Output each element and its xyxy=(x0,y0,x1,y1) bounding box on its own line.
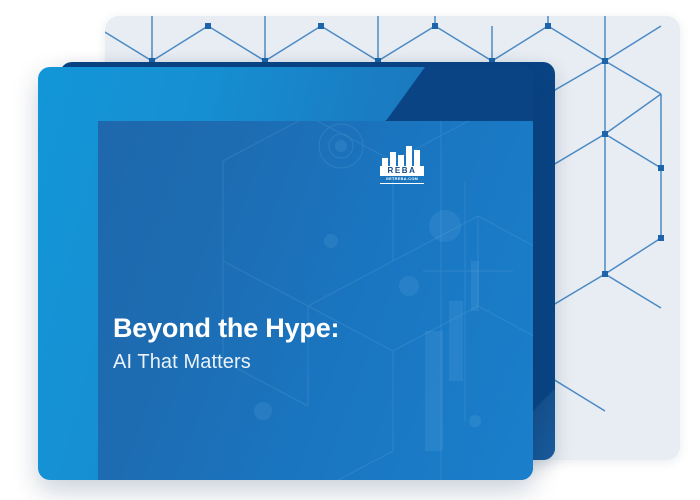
page-title: Beyond the Hype: xyxy=(113,315,339,342)
reba-logo: REBA GETREBA.COM xyxy=(380,146,424,184)
logo-wordmark: REBA xyxy=(380,166,424,176)
logo-url: GETREBA.COM xyxy=(380,177,424,184)
front-cover-card: Beyond the Hype: AI That Matters xyxy=(38,67,533,480)
bar-chart-icon xyxy=(382,146,422,167)
bar-2 xyxy=(390,152,396,167)
cover-tech-pattern xyxy=(213,121,533,480)
bar-4 xyxy=(406,146,412,167)
mockup-stage: A rs get en nto ions trend is time. rite… xyxy=(0,0,700,500)
cover-inner-panel xyxy=(98,121,533,480)
bar-5 xyxy=(414,150,420,167)
page-subtitle: AI That Matters xyxy=(113,352,251,372)
